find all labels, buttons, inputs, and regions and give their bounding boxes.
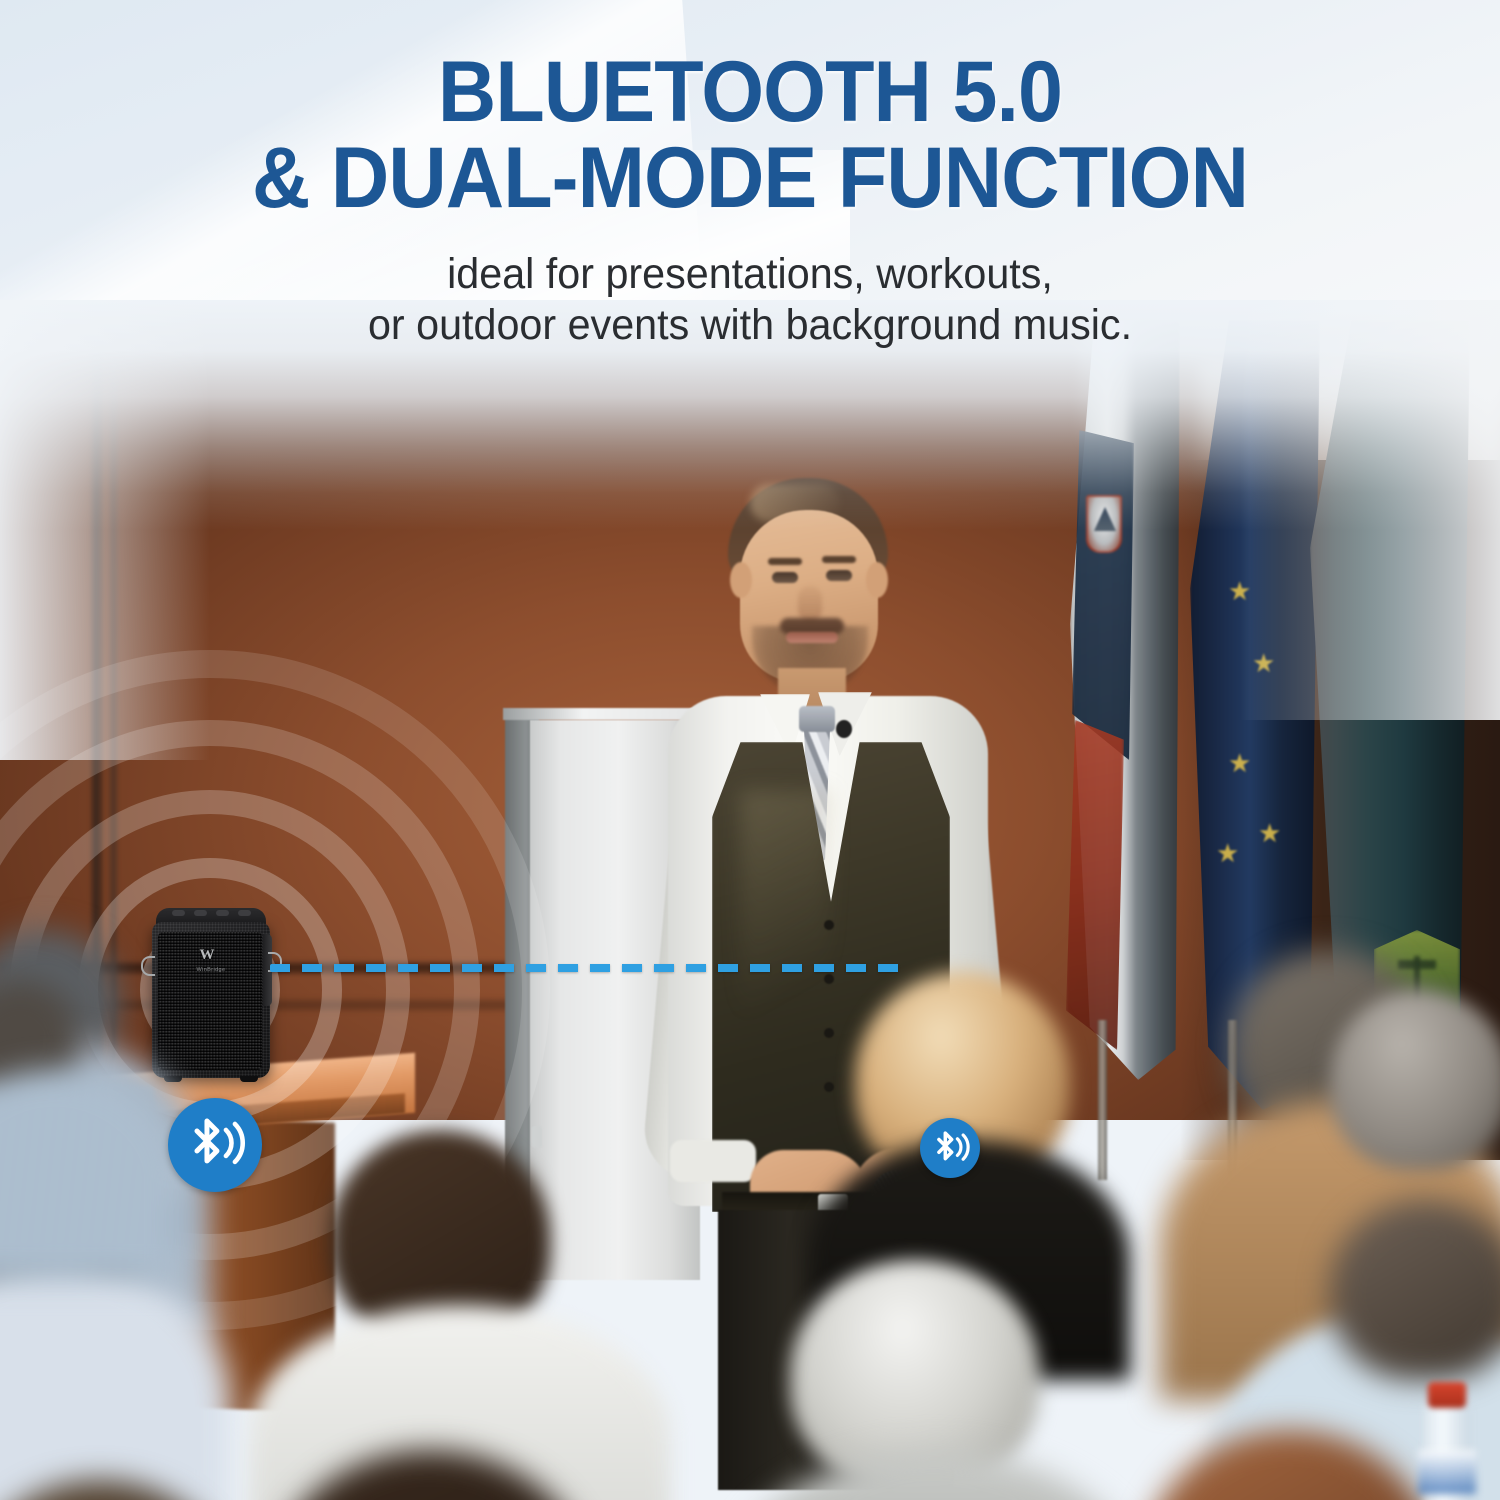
subheadline-line-2: or outdoor events with background music.	[30, 300, 1470, 351]
audience	[0, 300, 1500, 1500]
bluetooth-signal-icon	[183, 1113, 247, 1177]
bluetooth-badge-speaker	[168, 1098, 262, 1192]
water-bottle-label	[1418, 1450, 1476, 1494]
product-feature-poster: ★ ★ ★ ★ ★	[0, 0, 1500, 1500]
water-bottle-cap	[1428, 1382, 1466, 1408]
bluetooth-badge-microphone	[920, 1118, 980, 1178]
audience-head	[1330, 1200, 1500, 1380]
scene-photograph: ★ ★ ★ ★ ★	[0, 300, 1500, 1500]
subheadline-line-1: ideal for presentations, workouts,	[30, 249, 1470, 300]
bluetooth-signal-icon	[930, 1128, 971, 1169]
subheadline: ideal for presentations, workouts, or ou…	[30, 249, 1470, 350]
headline-line-1: BLUETOOTH 5.0	[438, 44, 1062, 140]
headline: BLUETOOTH 5.0 & DUAL-MODE FUNCTION	[45, 52, 1455, 219]
headline-line-2: & DUAL-MODE FUNCTION	[45, 138, 1455, 220]
audience-head	[1330, 990, 1500, 1170]
audience-shoulder	[720, 1450, 1150, 1500]
header-text-block: BLUETOOTH 5.0 & DUAL-MODE FUNCTION ideal…	[0, 52, 1500, 351]
